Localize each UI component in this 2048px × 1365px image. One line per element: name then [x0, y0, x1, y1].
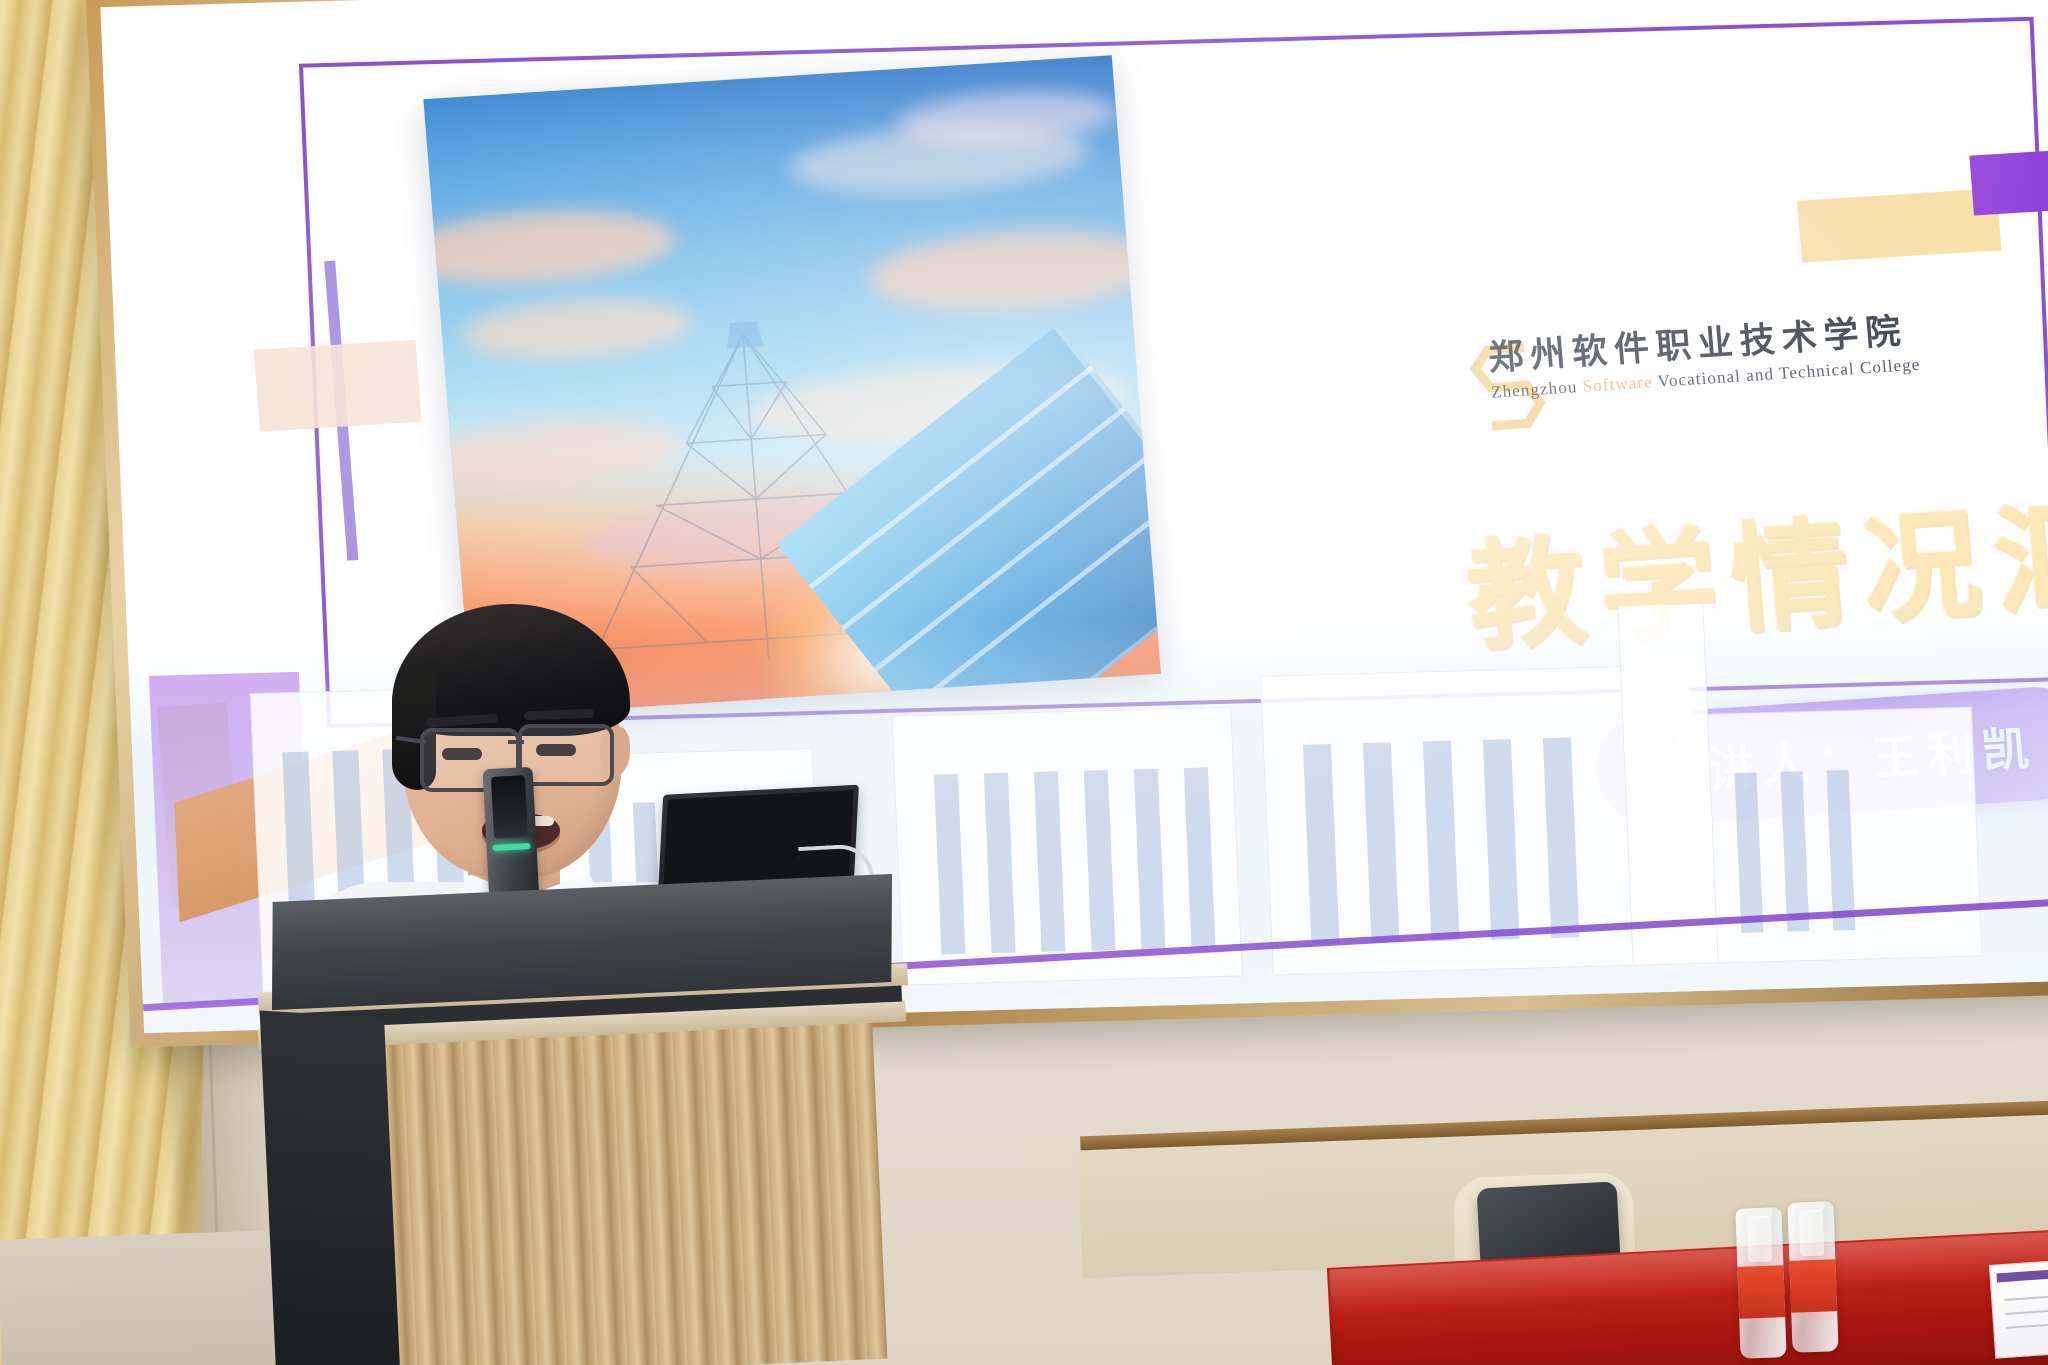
name-card-line — [2005, 1309, 2048, 1315]
clicker-led-indicator — [492, 843, 530, 851]
water-bottle — [1735, 1207, 1786, 1359]
presentation-clicker[interactable] — [482, 767, 539, 905]
campus-building — [1672, 707, 1983, 965]
water-bottle — [1787, 1201, 1838, 1353]
deco-peach-block — [254, 340, 422, 432]
table-name-card — [1989, 1259, 2048, 1358]
deco-purple-block-right — [1969, 145, 2048, 216]
college-name-en-highlight: Software — [1582, 372, 1654, 396]
deco-gold-block-right — [1797, 188, 2001, 262]
bottle-neck — [1799, 1210, 1825, 1257]
screenshot-root: 郑州软件职业技术学院 Zhengzhou Software Vocational… — [0, 0, 2048, 1365]
clicker-face — [491, 775, 528, 839]
name-card-header — [1996, 1269, 2048, 1283]
name-card-line — [2004, 1295, 2048, 1301]
bottle-label — [1789, 1259, 1837, 1313]
name-card-line — [2006, 1323, 2048, 1329]
eyeglasses-bridge — [508, 740, 524, 744]
campus-tower — [1617, 594, 1719, 966]
bottle-label — [1737, 1265, 1785, 1319]
bottle-neck — [1747, 1216, 1773, 1263]
podium-side-panel — [260, 1010, 401, 1365]
